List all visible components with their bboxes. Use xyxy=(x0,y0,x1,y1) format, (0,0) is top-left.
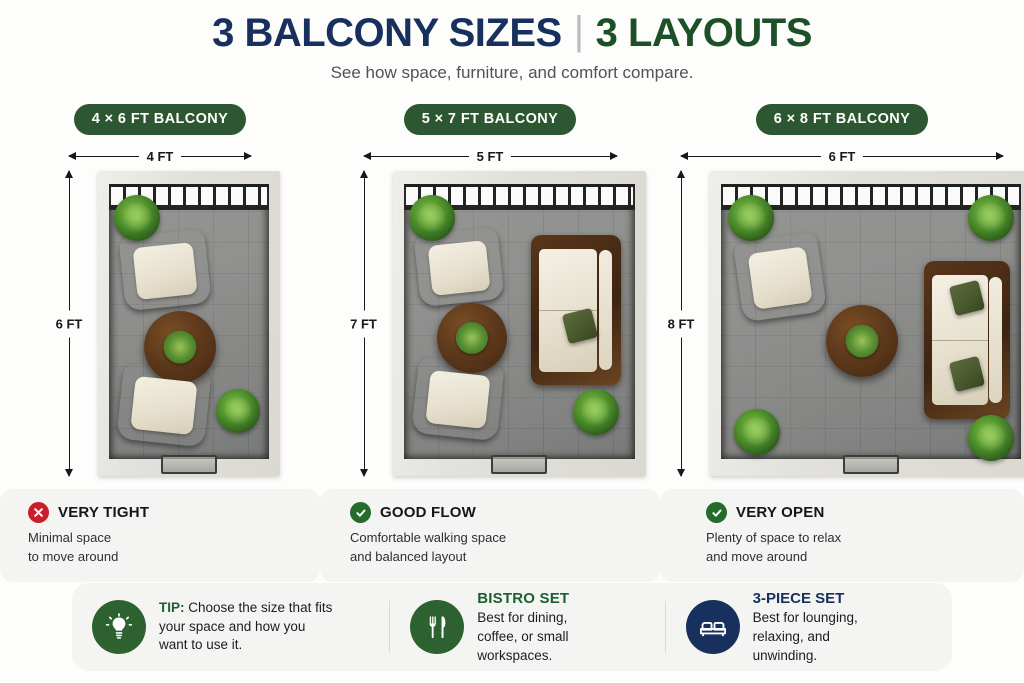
tip-label: TIP: xyxy=(159,600,185,615)
threepiece-line-1: Best for lounging, xyxy=(753,609,858,628)
potted-plant-icon xyxy=(728,195,774,241)
status-description-3: Plenty of space to relax and move around xyxy=(706,529,1006,567)
footer-item-three-piece-set: 3-PIECE SET Best for lounging, relaxing,… xyxy=(666,589,952,666)
balcony-column-1: 4 × 6 FT BALCONY 4 FT 6 FT xyxy=(0,104,320,582)
width-label-3: 6 FT xyxy=(821,149,864,164)
status-description-2: Comfortable walking space and balanced l… xyxy=(350,529,642,567)
footer-threepiece-text: 3-PIECE SET Best for lounging, relaxing,… xyxy=(753,589,858,666)
balcony-illustration-3 xyxy=(710,171,1024,476)
width-dimension-1: 4 FT xyxy=(69,149,251,163)
sofa-icon xyxy=(686,600,740,654)
badge-balcony-2: 5 × 7 FT BALCONY xyxy=(404,104,577,135)
check-circle-icon xyxy=(706,502,727,523)
height-dimension-1: 6 FT xyxy=(40,171,98,476)
status-description-1: Minimal space to move around xyxy=(28,529,302,567)
threepiece-heading: 3-PIECE SET xyxy=(753,589,858,610)
status-line-1: Plenty of space to relax xyxy=(706,529,1006,548)
potted-plant-icon xyxy=(216,389,260,433)
bistro-line-2: coffee, or small xyxy=(477,628,569,647)
infographic-page: 3 BALCONY SIZES|3 LAYOUTS See how space,… xyxy=(0,0,1024,683)
height-label-3: 8 FT xyxy=(665,310,698,337)
status-line-2: and balanced layout xyxy=(350,548,642,567)
footer-item-bistro-set: BISTRO SET Best for dining, coffee, or s… xyxy=(390,589,664,666)
wicker-chair xyxy=(413,227,504,307)
height-dimension-2: 7 FT xyxy=(335,171,393,476)
potted-plant-icon xyxy=(573,389,619,435)
status-card-2: GOOD FLOW Comfortable walking space and … xyxy=(320,489,660,582)
balcony-block-2: 7 FT xyxy=(335,171,646,476)
tip-line-3: want to use it. xyxy=(159,636,332,655)
width-label-2: 5 FT xyxy=(469,149,512,164)
round-table xyxy=(826,305,898,377)
status-card-1: VERY TIGHT Minimal space to move around xyxy=(0,489,320,582)
wicker-sofa xyxy=(924,261,1010,419)
header: 3 BALCONY SIZES|3 LAYOUTS See how space,… xyxy=(0,0,1024,83)
status-line-1: Minimal space xyxy=(28,529,302,548)
footer-tips-bar: TIP: Choose the size that fits your spac… xyxy=(72,583,952,671)
status-heading-3: VERY OPEN xyxy=(736,504,825,521)
potted-plant-icon xyxy=(968,415,1014,461)
status-heading-1: VERY TIGHT xyxy=(58,504,149,521)
width-label-1: 4 FT xyxy=(139,149,182,164)
balcony-block-3: 8 FT xyxy=(652,171,1024,476)
width-dimension-2: 5 FT xyxy=(364,149,617,163)
balcony-illustration-1 xyxy=(98,171,280,476)
wicker-chair xyxy=(411,357,504,442)
bistro-heading: BISTRO SET xyxy=(477,589,569,610)
height-label-1: 6 FT xyxy=(53,310,86,337)
glass-side-table xyxy=(161,455,217,474)
potted-plant-icon xyxy=(968,195,1014,241)
glass-side-table xyxy=(843,455,899,474)
glass-side-table xyxy=(491,455,547,474)
tip-line-2: your space and how you xyxy=(159,618,332,637)
height-label-2: 7 FT xyxy=(347,310,380,337)
status-line-2: to move around xyxy=(28,548,302,567)
footer-tip-text: TIP: Choose the size that fits your spac… xyxy=(159,599,332,655)
comparison-columns: 4 × 6 FT BALCONY 4 FT 6 FT xyxy=(0,104,1024,582)
threepiece-line-3: unwinding. xyxy=(753,647,858,666)
balcony-column-2: 5 × 7 FT BALCONY 5 FT 7 FT xyxy=(320,104,660,582)
wicker-chair xyxy=(118,229,211,312)
threepiece-line-2: relaxing, and xyxy=(753,628,858,647)
balcony-column-3: 6 × 8 FT BALCONY 6 FT 8 FT xyxy=(660,104,1024,582)
wicker-chair xyxy=(116,363,211,448)
tip-line-1: Choose the size that fits xyxy=(185,600,333,615)
footer-item-tip: TIP: Choose the size that fits your spac… xyxy=(72,599,389,655)
title-part-layouts: 3 LAYOUTS xyxy=(596,11,812,55)
potted-plant-icon xyxy=(734,409,780,455)
bistro-line-3: workspaces. xyxy=(477,647,569,666)
width-dimension-3: 6 FT xyxy=(681,149,1003,163)
status-card-3: VERY OPEN Plenty of space to relax and m… xyxy=(660,489,1024,582)
wicker-chair xyxy=(733,232,827,323)
height-dimension-3: 8 FT xyxy=(652,171,710,476)
status-line-2: and move around xyxy=(706,548,1006,567)
page-subtitle: See how space, furniture, and comfort co… xyxy=(0,63,1024,83)
title-separator: | xyxy=(574,10,584,52)
title-part-sizes: 3 BALCONY SIZES xyxy=(212,11,562,55)
wicker-sofa xyxy=(531,235,621,385)
fork-knife-icon xyxy=(410,600,464,654)
page-title: 3 BALCONY SIZES|3 LAYOUTS xyxy=(0,12,1024,54)
lightbulb-icon xyxy=(92,600,146,654)
balcony-illustration-2 xyxy=(393,171,646,476)
balcony-block-1: 6 FT xyxy=(40,171,280,476)
status-heading-2: GOOD FLOW xyxy=(380,504,476,521)
x-circle-icon xyxy=(28,502,49,523)
check-circle-icon xyxy=(350,502,371,523)
badge-balcony-3: 6 × 8 FT BALCONY xyxy=(756,104,929,135)
footer-bistro-text: BISTRO SET Best for dining, coffee, or s… xyxy=(477,589,569,666)
status-line-1: Comfortable walking space xyxy=(350,529,642,548)
badge-balcony-1: 4 × 6 FT BALCONY xyxy=(74,104,247,135)
bistro-line-1: Best for dining, xyxy=(477,609,569,628)
